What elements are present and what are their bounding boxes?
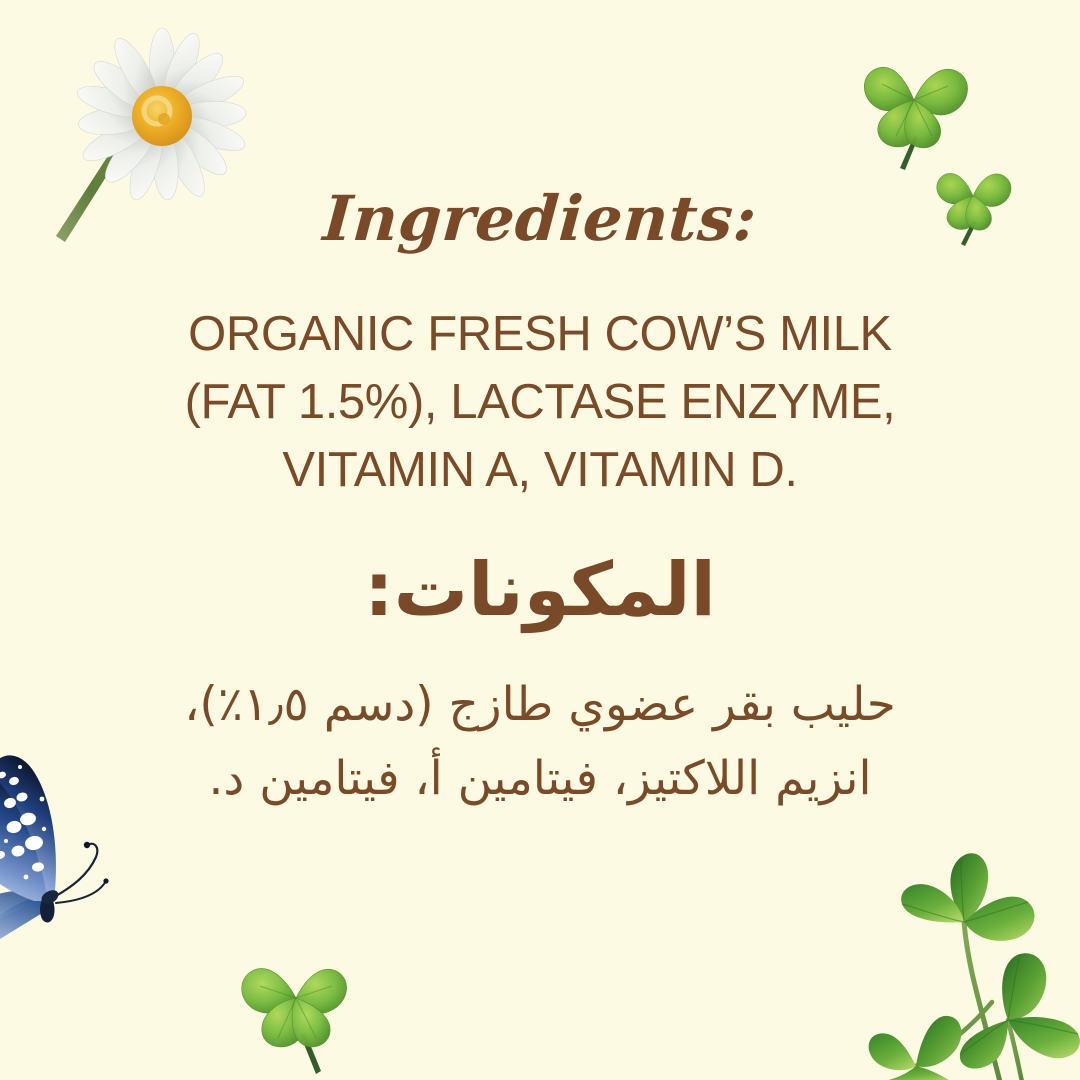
english-body-line-3: VITAMIN A, VITAMIN D. — [120, 436, 960, 504]
arabic-body-line-1: حليب بقر عضوي طازج (دسم ١٫٥٪)، — [90, 668, 990, 742]
four-leaf-clover-icon — [228, 938, 368, 1078]
ingredients-label-canvas: Ingredients: ORGANIC FRESH COW’S MILK (F… — [0, 0, 1080, 1080]
english-body-line-1: ORGANIC FRESH COW’S MILK — [120, 300, 960, 368]
arabic-body-line-2: انزيم اللاكتيز، فيتامين أ، فيتامين د. — [90, 742, 990, 816]
english-body-line-2: (FAT 1.5%), LACTASE ENZYME, — [120, 368, 960, 436]
english-ingredients-body: ORGANIC FRESH COW’S MILK (FAT 1.5%), LAC… — [120, 300, 960, 504]
clover-sprig-icon — [872, 830, 1080, 1080]
arabic-ingredients-body: حليب بقر عضوي طازج (دسم ١٫٥٪)، انزيم الل… — [90, 668, 990, 816]
arabic-ingredients-heading: المكونات: — [0, 548, 1080, 633]
english-ingredients-heading: Ingredients: — [0, 188, 1080, 250]
